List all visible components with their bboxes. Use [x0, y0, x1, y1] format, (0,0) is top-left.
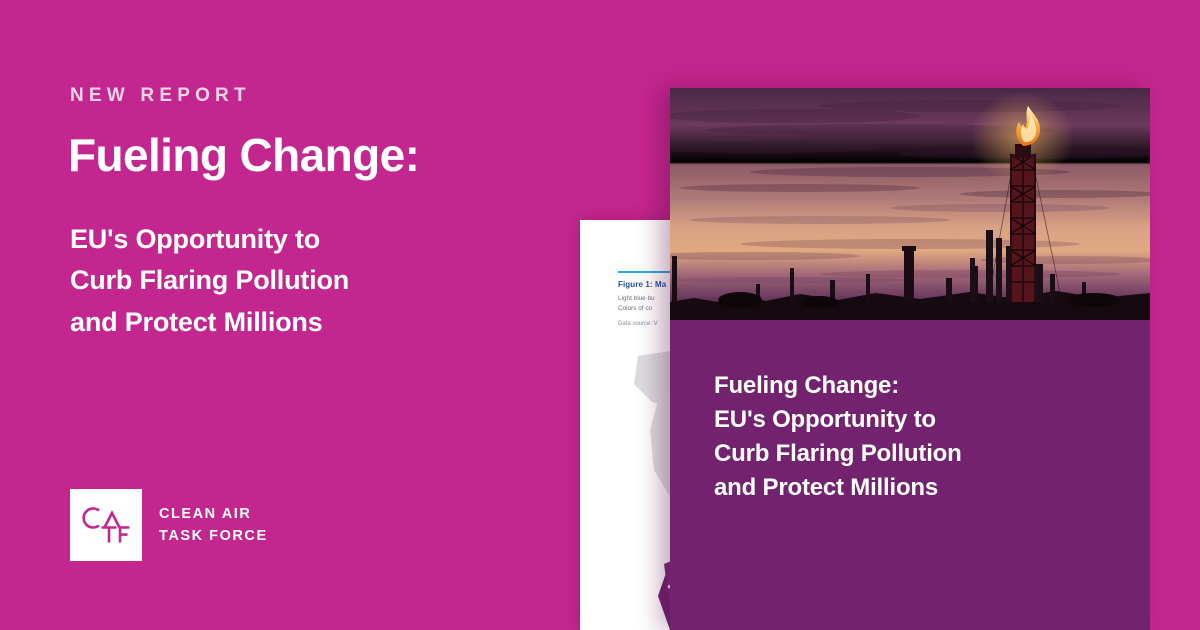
figure-description: Light blue bu Colors of co: [618, 294, 655, 315]
report-cover[interactable]: Fueling Change: EU's Opportunity to Curb…: [670, 88, 1150, 630]
catf-logo-mark-icon: [70, 489, 142, 561]
cover-title-line-4: and Protect Millions: [714, 471, 962, 505]
cover-title-line-3: Curb Flaring Pollution: [714, 437, 962, 471]
catf-logo-wordmark: CLEAN AIR TASK FORCE: [159, 503, 268, 547]
figure-description-line-1: Light blue bu: [618, 294, 655, 304]
subtitle-line-2: Curb Flaring Pollution: [70, 260, 349, 301]
eyebrow-label: NEW REPORT: [70, 86, 251, 105]
figure-source-note: Data source: V: [618, 321, 658, 327]
promo-panel: NEW REPORT Fueling Change: EU's Opportun…: [70, 0, 540, 630]
cover-title-line-2: EU's Opportunity to: [714, 403, 962, 437]
logo-name-line-2: TASK FORCE: [159, 525, 268, 547]
cover-title-line-1: Fueling Change:: [714, 369, 962, 403]
subtitle-line-1: EU's Opportunity to: [70, 219, 349, 260]
subtitle-line-3: and Protect Millions: [70, 302, 349, 343]
figure-title: Figure 1: Ma: [618, 280, 666, 289]
cover-title: Fueling Change: EU's Opportunity to Curb…: [714, 369, 962, 505]
page-title: Fueling Change:: [68, 131, 419, 181]
page-subtitle: EU's Opportunity to Curb Flaring Polluti…: [70, 219, 349, 343]
catf-logo[interactable]: CLEAN AIR TASK FORCE: [70, 489, 268, 561]
cover-photo-flare-image: [670, 88, 1150, 320]
logo-name-line-1: CLEAN AIR: [159, 503, 268, 525]
figure-description-line-2: Colors of co: [618, 304, 655, 314]
